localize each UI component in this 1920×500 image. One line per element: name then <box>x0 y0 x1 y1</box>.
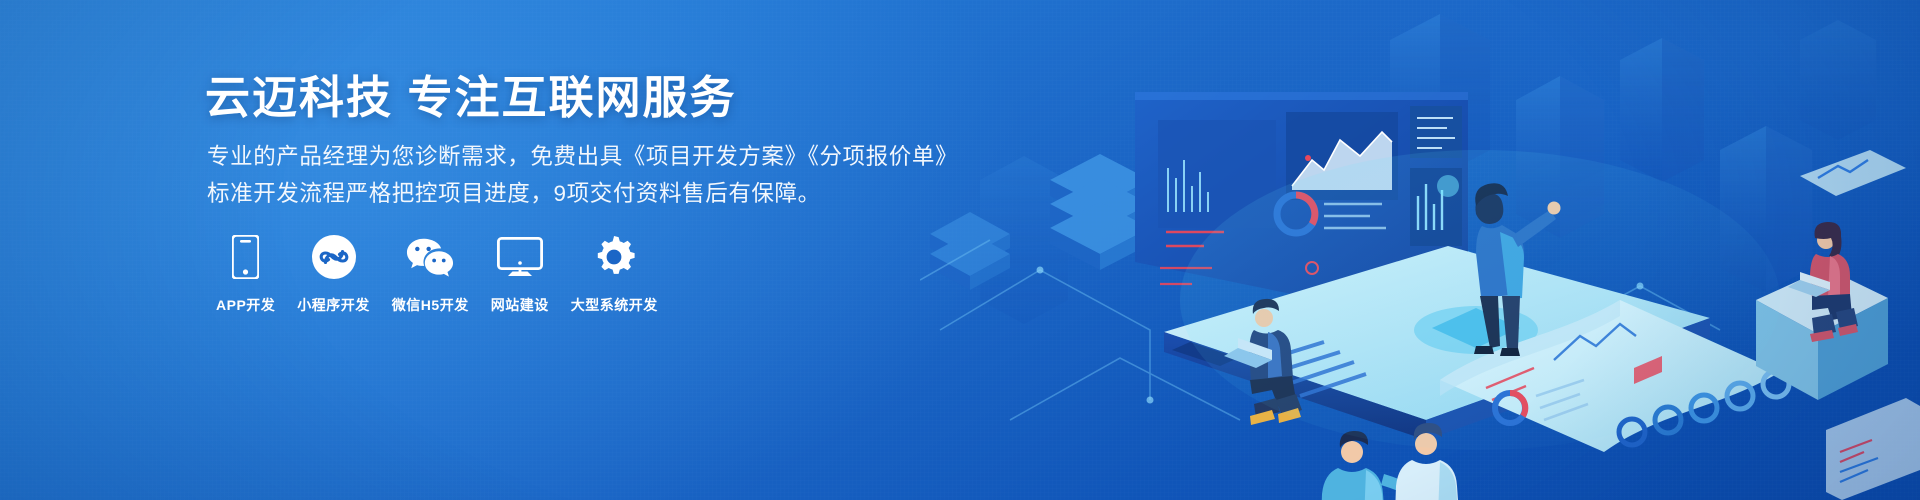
mini-program-icon <box>310 232 358 282</box>
hero-illustration <box>920 0 1920 500</box>
service-list: APP开发 小程序开发 <box>205 232 669 315</box>
mobile-phone-icon <box>222 232 270 282</box>
gear-icon <box>590 232 638 282</box>
service-item-website[interactable]: 网站建设 <box>480 232 560 315</box>
wechat-icon <box>406 232 454 282</box>
service-label: 小程序开发 <box>297 295 370 315</box>
service-item-large-system[interactable]: 大型系统开发 <box>560 232 669 315</box>
service-label: 微信H5开发 <box>392 295 469 315</box>
monitor-icon <box>496 232 544 282</box>
service-item-wechat-h5[interactable]: 微信H5开发 <box>381 232 480 315</box>
code-card <box>1826 398 1920 500</box>
service-label: 网站建设 <box>491 295 549 315</box>
service-label: 大型系统开发 <box>571 295 658 315</box>
hero-copy: 云迈科技 专注互联网服务 专业的产品经理为您诊断需求，免费出具《项目开发方案》《… <box>205 0 905 500</box>
service-item-app[interactable]: APP开发 <box>205 232 286 315</box>
service-label: APP开发 <box>216 295 275 315</box>
subtitle-line-1: 专业的产品经理为您诊断需求，免费出具《项目开发方案》《分项报价单》 <box>207 146 958 169</box>
hero-banner: 云迈科技 专注互联网服务 专业的产品经理为您诊断需求，免费出具《项目开发方案》《… <box>0 0 1920 500</box>
subtitle-line-2: 标准开发流程严格把控项目进度，9项交付资料售后有保障。 <box>207 183 821 206</box>
service-item-miniprogram[interactable]: 小程序开发 <box>286 232 381 315</box>
page-title: 云迈科技 专注互联网服务 <box>205 72 737 124</box>
